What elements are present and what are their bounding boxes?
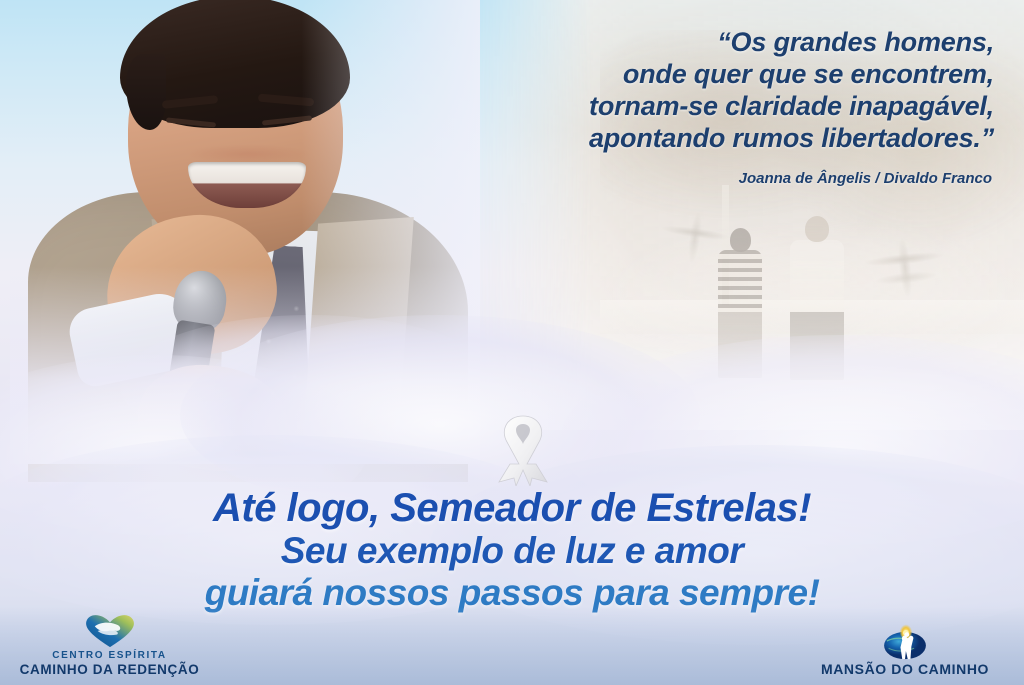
logo-right-line-1: MANSÃO DO CAMINHO bbox=[800, 661, 1010, 677]
walking-figure-white-shirt-icon bbox=[790, 240, 844, 380]
quote-attribution: Joanna de Ângelis / Divaldo Franco bbox=[392, 170, 992, 187]
logo-mansao-do-caminho: MANSÃO DO CAMINHO bbox=[800, 621, 1010, 677]
quote-line-4: apontando rumos libertadores.” bbox=[394, 122, 994, 154]
logo-left-line-1: CENTRO ESPÍRITA bbox=[12, 650, 207, 662]
globe-with-figure-icon bbox=[800, 621, 1010, 661]
headline-line-2: Seu exemplo de luz e amor bbox=[0, 530, 1024, 572]
quote-line-2: onde quer que se encontrem, bbox=[394, 58, 994, 90]
quote-text: “Os grandes homens, onde quer que se enc… bbox=[394, 26, 994, 154]
walking-figure-striped-shirt-icon bbox=[718, 250, 762, 378]
mourning-ribbon-icon bbox=[486, 408, 560, 486]
heart-with-hands-icon bbox=[12, 610, 207, 650]
memorial-poster: “Os grandes homens, onde quer que se enc… bbox=[0, 0, 1024, 685]
logo-centro-espirita: CENTRO ESPÍRITA CAMINHO DA REDENÇÃO bbox=[12, 610, 207, 677]
quote-line-1: “Os grandes homens, bbox=[394, 26, 994, 58]
headline-block: Até logo, Semeador de Estrelas! Seu exem… bbox=[0, 486, 1024, 614]
headline-line-1: Até logo, Semeador de Estrelas! bbox=[0, 486, 1024, 530]
logo-left-line-2: CAMINHO DA REDENÇÃO bbox=[12, 662, 207, 677]
quote-line-3: tornam-se claridade inapagável, bbox=[394, 90, 994, 122]
